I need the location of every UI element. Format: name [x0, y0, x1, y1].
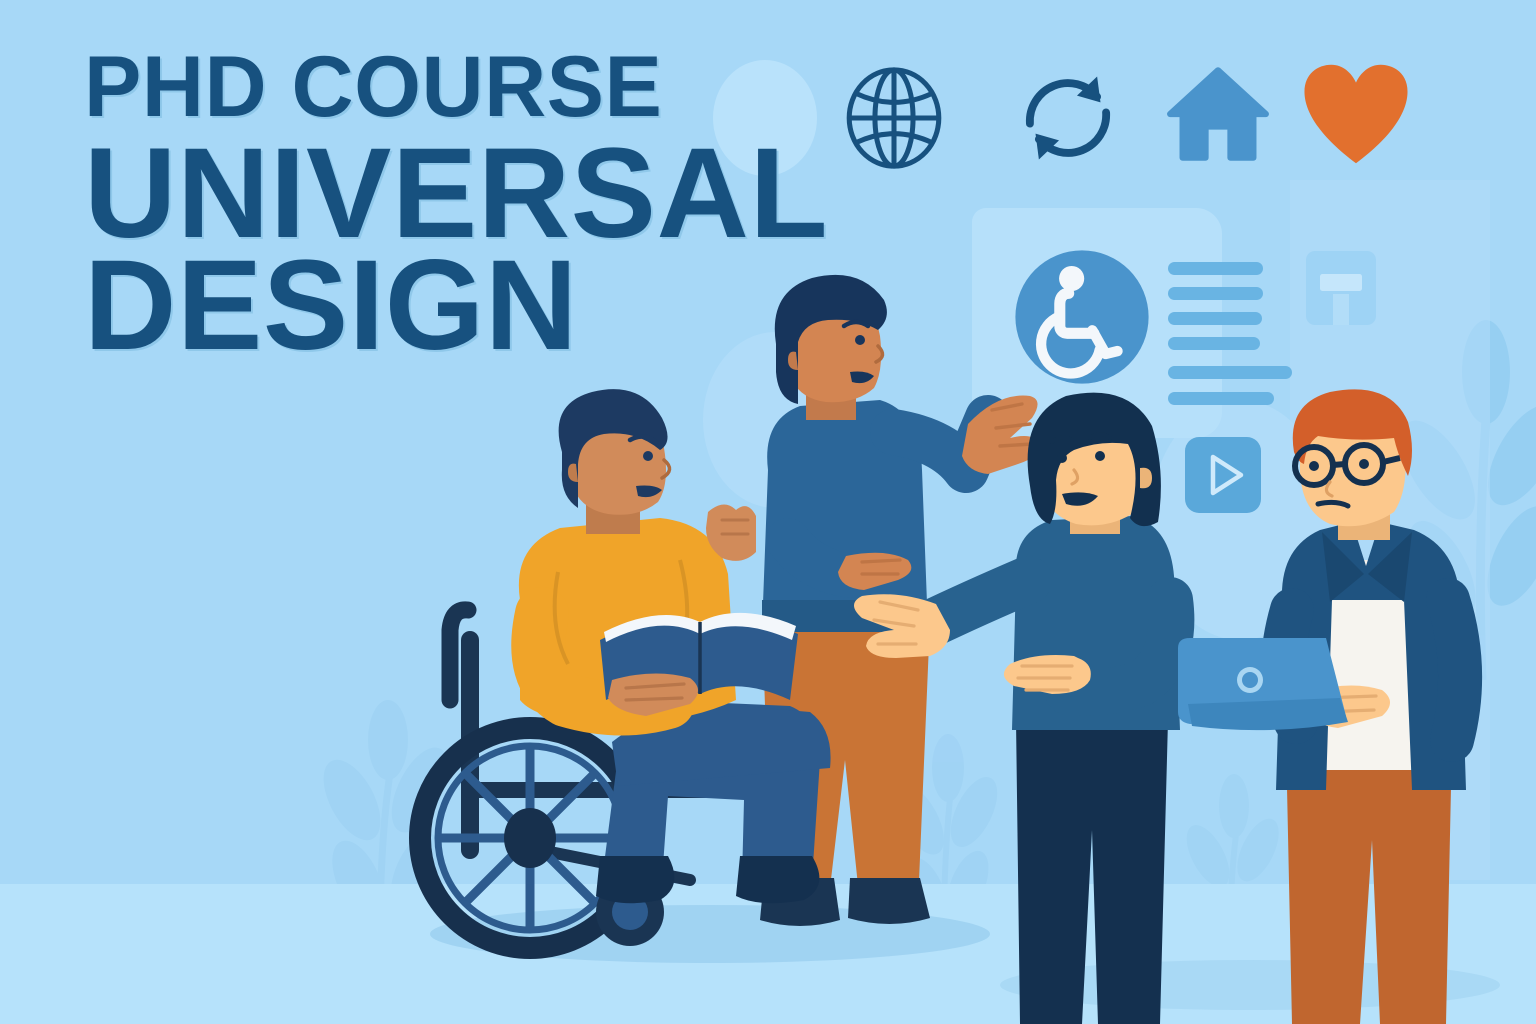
- man-eye-right: [1359, 459, 1369, 469]
- laptop: [1178, 638, 1348, 730]
- man-eye-left: [1309, 461, 1319, 471]
- standing-woman-shoe-right: [848, 878, 930, 924]
- bob-woman-eye-left: [1057, 453, 1067, 463]
- poster-canvas: PhD Course Universal Design: [0, 0, 1536, 1024]
- people-illustration-layer: [0, 0, 1536, 1024]
- bob-woman-pants: [1016, 720, 1168, 1024]
- wheelchair-user-shoe-left: [596, 856, 674, 903]
- person-man-glasses: [1178, 389, 1466, 1024]
- standing-woman-eye: [855, 335, 865, 345]
- wheelchair-user-shoe-right: [736, 856, 819, 903]
- man-arm-right: [1448, 600, 1460, 740]
- wheelchair-user-eye: [643, 451, 653, 461]
- bob-woman-eye-right: [1095, 451, 1105, 461]
